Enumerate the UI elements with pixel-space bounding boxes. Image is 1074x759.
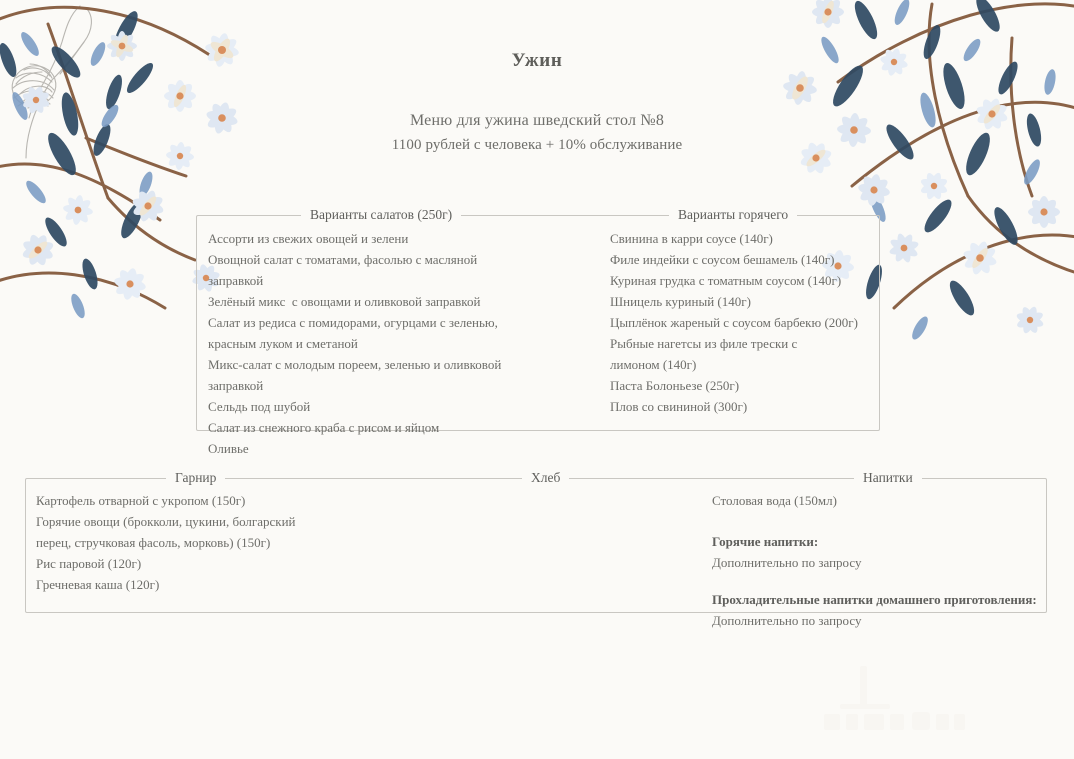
legend-hot-dishes: Варианты горячего: [669, 207, 797, 223]
menu-price-line: 1100 рублей с человека + 10% обслуживани…: [0, 137, 1074, 154]
list-garnish: Картофель отварной с укропом (150г) Горя…: [36, 490, 336, 595]
drinks-cold-heading: Прохладительные напитки домашнего пригот…: [712, 589, 1052, 610]
drinks-hot-note: Дополнительно по запросу: [712, 552, 1052, 573]
page-title: Ужин: [0, 50, 1074, 72]
list-item: Куриная грудка с томатным соусом (140г): [610, 270, 880, 291]
drinks-spacer: [712, 511, 1052, 531]
salads-list: Ассорти из свежих овощей и зелени Овощно…: [208, 228, 548, 460]
list-item: Горячие овощи (брокколи, цукини, болгарс…: [36, 511, 336, 553]
hot-dishes-list: Свинина в карри соусе (140г) Филе индейк…: [610, 228, 880, 417]
drink-water: Столовая вода (150мл): [712, 490, 1052, 511]
drinks-hot-group: Горячие напитки: Дополнительно по запрос…: [712, 531, 1052, 573]
list-item: Ассорти из свежих овощей и зелени: [208, 228, 548, 249]
list-item: Сельдь под шубой: [208, 396, 548, 417]
list-item: Паста Болоньезе (250г): [610, 375, 880, 396]
garnish-list: Картофель отварной с укропом (150г) Горя…: [36, 490, 336, 595]
list-item: Оливье: [208, 438, 548, 459]
list-salads: Ассорти из свежих овощей и зелени Овощно…: [208, 228, 548, 460]
list-drinks: Столовая вода (150мл) Горячие напитки: Д…: [712, 490, 1052, 647]
watermark-icon: [820, 660, 1060, 740]
list-item: Микс-салат с молодым пореем, зеленью и о…: [208, 354, 548, 396]
list-item: Рыбные нагетсы из филе трески с лимоном …: [610, 333, 880, 375]
list-item: Цыплёнок жареный с соусом барбекю (200г): [610, 312, 880, 333]
list-item: Плов со свининой (300г): [610, 396, 880, 417]
menu-page: Ужин Меню для ужина шведский стол №8 110…: [0, 0, 1074, 759]
list-item: Зелёный микс с овощами и оливковой запра…: [208, 291, 548, 312]
list-item: Рис паровой (120г): [36, 553, 336, 574]
menu-subtitle: Меню для ужина шведский стол №8: [0, 112, 1074, 130]
list-item: Салат из редиса с помидорами, огурцами с…: [208, 312, 548, 354]
legend-garnish: Гарнир: [166, 470, 225, 486]
list-item: Шницель куриный (140г): [610, 291, 880, 312]
legend-bread: Хлеб: [522, 470, 569, 486]
drinks-cold-group: Прохладительные напитки домашнего пригот…: [712, 589, 1052, 631]
list-item: Филе индейки с соусом бешамель (140г): [610, 249, 880, 270]
legend-salads: Варианты салатов (250г): [301, 207, 461, 223]
list-hot-dishes: Свинина в карри соусе (140г) Филе индейк…: [610, 228, 880, 417]
drinks-hot-heading: Горячие напитки:: [712, 531, 1052, 552]
legend-drinks: Напитки: [854, 470, 922, 486]
list-item: Картофель отварной с укропом (150г): [36, 490, 336, 511]
list-item: Гречневая каша (120г): [36, 574, 336, 595]
list-item: Салат из снежного краба с рисом и яйцом: [208, 417, 548, 438]
menu-header: Ужин Меню для ужина шведский стол №8 110…: [0, 50, 1074, 154]
list-item: Свинина в карри соусе (140г): [610, 228, 880, 249]
list-item: Овощной салат с томатами, фасолью с масл…: [208, 249, 548, 291]
drinks-cold-note: Дополнительно по запросу: [712, 610, 1052, 631]
